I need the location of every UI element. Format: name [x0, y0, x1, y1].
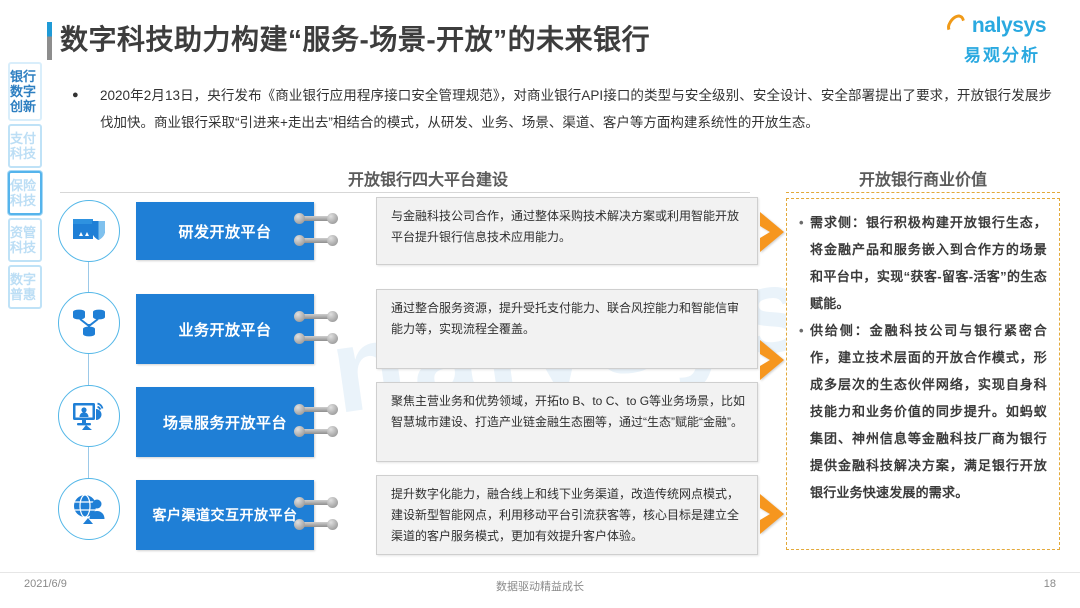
sidebar-item-label: 银行数字创新 — [10, 69, 40, 114]
connector-link-1a — [294, 213, 338, 224]
connector-link-3a — [294, 404, 338, 415]
slide-root: nalysys 数字科技助力构建“服务-场景-开放”的未来银行 nalysys … — [0, 0, 1080, 608]
sidebar-rail: 银行数字创新 支付科技 保险科技 资管科技 数字普惠 — [8, 62, 42, 312]
connector-link-4a — [294, 497, 338, 508]
value-list-item: • 供给侧：金融科技公司与银行紧密合作，建立技术层面的开放合作模式，形成多层次的… — [799, 317, 1047, 506]
platform-desc-4: 提升数字化能力，融合线上和线下业务渠道，改造传统网点模式，建设新型智能网点，利用… — [376, 475, 758, 555]
logo-chinese-name: 易观分析 — [942, 41, 1062, 66]
bullet-icon: • — [799, 317, 810, 506]
sidebar-item-digital-inclusive-finance[interactable]: 数字普惠 — [8, 265, 42, 309]
connector-link-4b — [294, 519, 338, 530]
section-heading-platforms: 开放银行四大平台建设 — [118, 166, 738, 190]
sidebar-item-label: 保险科技 — [10, 178, 40, 208]
connector-link-3b — [294, 426, 338, 437]
package-shield-icon — [58, 200, 120, 262]
platform-name-3[interactable]: 场景服务开放平台 — [136, 387, 314, 457]
sidebar-item-bank-digital-innovation[interactable]: 银行数字创新 — [8, 62, 42, 121]
platform-name-4[interactable]: 客户渠道交互开放平台 — [136, 480, 314, 550]
sidebar-item-label: 支付科技 — [10, 131, 40, 161]
footer-divider — [0, 572, 1080, 573]
section-divider-left — [60, 192, 750, 193]
analysys-logo: nalysys 易观分析 — [942, 12, 1062, 66]
sidebar-item-label: 数字普惠 — [10, 272, 40, 302]
section-divider-right — [786, 192, 1060, 193]
value-list-item: • 需求侧：银行积极构建开放银行生态，将金融产品和服务嵌入到合作方的场景和平台中… — [799, 209, 1047, 317]
sidebar-item-insurance-tech[interactable]: 保险科技 — [8, 171, 42, 215]
platform-name-2[interactable]: 业务开放平台 — [136, 294, 314, 364]
sidebar-item-payment-tech[interactable]: 支付科技 — [8, 124, 42, 168]
footer-tagline: 数据驱动精益成长 — [0, 578, 1080, 594]
database-network-icon — [58, 292, 120, 354]
logo-mark: nalysys — [942, 12, 1062, 40]
section-heading-value: 开放银行商业价值 — [790, 166, 1056, 190]
platform-desc-3: 聚焦主营业务和优势领域，开拓to B、to C、to G等业务场景，比如智慧城市… — [376, 382, 758, 462]
connector-link-2a — [294, 311, 338, 322]
value-item-text: 需求侧：银行积极构建开放银行生态，将金融产品和服务嵌入到合作方的场景和平台中，实… — [810, 209, 1047, 317]
intro-text: 2020年2月13日，央行发布《商业银行应用程序接口安全管理规范》，对商业银行A… — [100, 82, 1052, 136]
value-item-text: 供给侧：金融科技公司与银行紧密合作，建立技术层面的开放合作模式，形成多层次的生态… — [810, 317, 1047, 506]
intro-paragraph: ● 2020年2月13日，央行发布《商业银行应用程序接口安全管理规范》，对商业银… — [72, 82, 1052, 136]
title-accent-bar — [47, 22, 52, 60]
platform-desc-1: 与金融科技公司合作，通过整体采购技术解决方案或利用智能开放平台提升银行信息技术应… — [376, 197, 758, 265]
timeline-spine — [88, 236, 89, 516]
screen-person-icon — [58, 385, 120, 447]
connector-link-2b — [294, 333, 338, 344]
bullet-icon: ● — [72, 82, 100, 136]
bullet-icon: • — [799, 209, 810, 317]
business-value-panel: • 需求侧：银行积极构建开放银行生态，将金融产品和服务嵌入到合作方的场景和平台中… — [786, 198, 1060, 550]
sidebar-item-asset-management-tech[interactable]: 资管科技 — [8, 218, 42, 262]
globe-person-icon — [58, 478, 120, 540]
page-title: 数字科技助力构建“服务-场景-开放”的未来银行 — [60, 18, 650, 58]
sidebar-item-label: 资管科技 — [10, 225, 40, 255]
platform-name-1[interactable]: 研发开放平台 — [136, 202, 314, 260]
footer-page-number: 18 — [1044, 578, 1056, 590]
connector-link-1b — [294, 235, 338, 246]
platform-desc-2: 通过整合服务资源，提升受托支付能力、联合风控能力和智能信审能力等，实现流程全覆盖… — [376, 289, 758, 369]
